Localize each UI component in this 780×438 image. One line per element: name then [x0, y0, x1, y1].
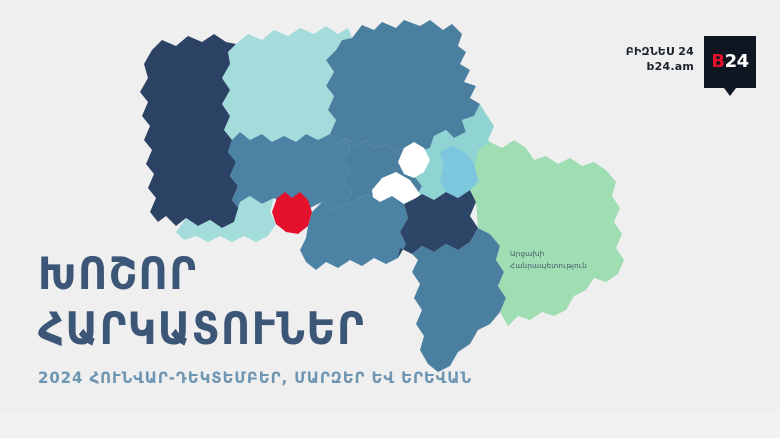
page-subtitle: 2024 ՀՈՒՆՎԱՐ-ԴԵԿՏԵՄԲԵՐ, ՄԱՐԶԵՐ ԵՎ ԵՐԵՎԱՆ	[38, 368, 468, 387]
brand-block: ԲԻԶՆԵՍ 24 b24.am B24	[626, 36, 756, 88]
infographic-canvas: Արցախի Հանրապետություն ԽՈՇՈՐ ՀԱՐԿԱՏՈՒՆԵՐ…	[0, 0, 780, 438]
page-title-line-1: ԽՈՇՈՐ	[38, 250, 468, 300]
map-region-tavush[interactable]	[326, 20, 480, 152]
brand-text: ԲԻԶՆԵՍ 24 b24.am	[626, 36, 694, 73]
page-title-line-2: ՀԱՐԿԱՏՈՒՆԵՐ	[38, 305, 468, 355]
b24-logo-mark: B24	[711, 53, 748, 71]
logo-letter-b: B	[711, 51, 724, 72]
map-label-artsakh-line1: Արցախի	[510, 249, 544, 258]
logo-number-24: 24	[725, 51, 749, 72]
map-label-artsakh-line2: Հանրապետություն	[510, 261, 587, 270]
title-block: ԽՈՇՈՐ ՀԱՐԿԱՏՈՒՆԵՐ 2024 ՀՈՒՆՎԱՐ-ԴԵԿՏԵՄԲԵՐ…	[38, 250, 468, 386]
brand-name: ԲԻԶՆԵՍ 24	[626, 45, 694, 58]
brand-url[interactable]: b24.am	[626, 60, 694, 73]
map-region-yerevan[interactable]	[272, 192, 312, 234]
b24-logo-badge[interactable]: B24	[704, 36, 756, 88]
